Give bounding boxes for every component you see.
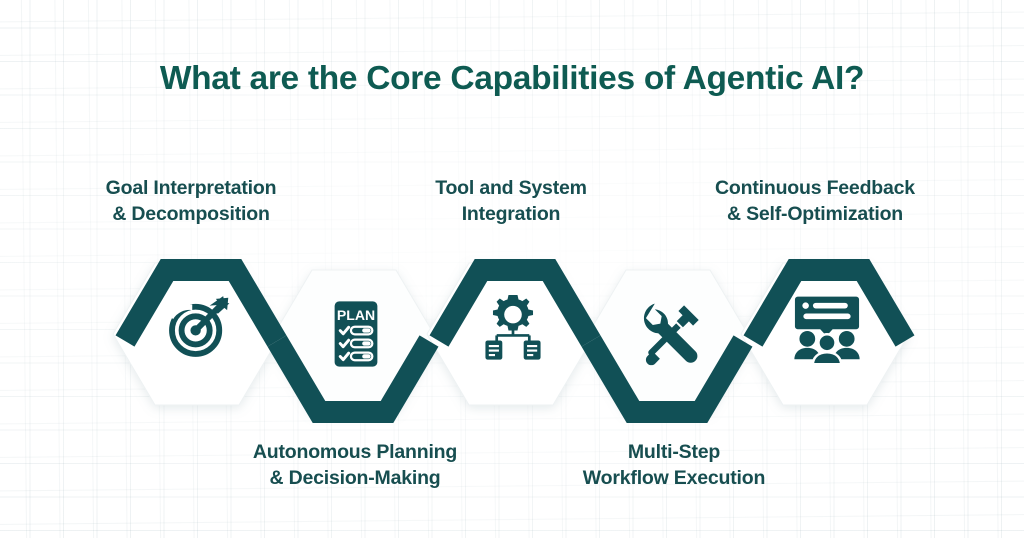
plan-icon-text: PLAN (337, 307, 375, 323)
hexagon-chain (0, 0, 1024, 538)
plan-checklist-icon: PLAN (320, 298, 392, 370)
wrench-screwdriver-icon (634, 298, 706, 370)
node-label-goal-interpretation: Goal Interpretation & Decomposition (52, 176, 330, 227)
node-label-autonomous-planning: Autonomous Planning & Decision-Making (204, 440, 506, 491)
node-label-tool-integration: Tool and System Integration (392, 176, 630, 227)
infographic-canvas: What are the Core Capabilities of Agenti… (0, 0, 1024, 538)
gear-nodes-icon (477, 291, 549, 363)
presentation-audience-icon (791, 291, 863, 363)
node-label-workflow-execution: Multi-Step Workflow Execution (540, 440, 808, 491)
target-arrow-icon (163, 291, 235, 363)
node-label-continuous-feedback: Continuous Feedback & Self-Optimization (668, 176, 962, 227)
